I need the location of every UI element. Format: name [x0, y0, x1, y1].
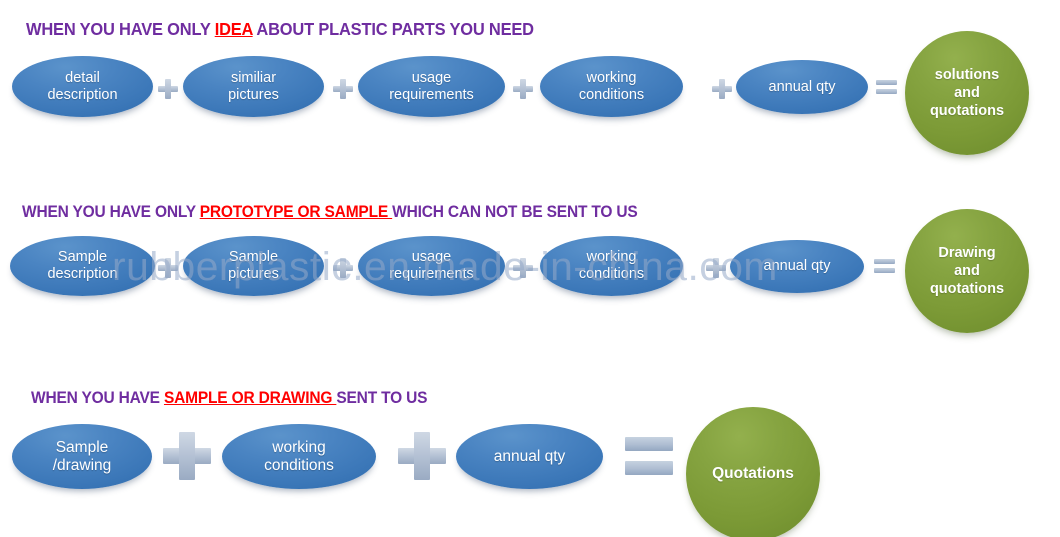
row-1-result-line3: quotations	[930, 103, 1004, 119]
row-1-input-1-text: detaildescription	[39, 70, 125, 103]
row-2-result-text: Drawingandquotations	[930, 244, 1004, 299]
row-3-equals-icon	[625, 437, 673, 475]
row-3-input-1-line1: Sample	[56, 439, 109, 456]
row-3-plus-icon-2	[398, 432, 446, 480]
row-3-input-ellipse-3[interactable]: annual qty	[456, 424, 603, 489]
row-3-heading-prefix: WHEN YOU HAVE	[31, 389, 164, 407]
row-3-input-1-text: Sample/drawing	[45, 439, 120, 474]
row-2-plus-icon-4	[706, 258, 726, 278]
row-3-input-ellipse-1[interactable]: Sample/drawing	[12, 424, 152, 489]
row-1-input-3-line1: usage	[412, 70, 452, 86]
row-3-input-2-line2: conditions	[264, 457, 334, 474]
row-1-result-line1: solutions	[935, 67, 999, 83]
row-2-input-1-text: Sampledescription	[39, 249, 125, 282]
row-2-input-4-line1: working	[587, 249, 637, 265]
row-2-input-ellipse-3[interactable]: usagerequirements	[358, 236, 505, 296]
row-1-input-5-text: annual qty	[761, 79, 844, 96]
row-1-input-3-text: usagerequirements	[381, 70, 482, 103]
row-2-heading-highlight: PROTOTYPE OR SAMPLE	[200, 203, 392, 221]
row-2-input-ellipse-2[interactable]: Samplepictures	[183, 236, 324, 296]
row-1-plus-icon-4	[712, 79, 732, 99]
row-1-input-4-text: workingconditions	[571, 70, 652, 103]
row-1-equals-icon	[876, 80, 897, 94]
row-3-plus-icon-1	[163, 432, 211, 480]
row-3-heading-highlight: SAMPLE OR DRAWING	[164, 389, 336, 407]
row-3-input-3-line1: annual qty	[494, 448, 566, 465]
row-2-result-line2: and	[954, 263, 980, 279]
row-2-heading: WHEN YOU HAVE ONLY PROTOTYPE OR SAMPLE W…	[22, 203, 638, 222]
row-1-input-2-line2: pictures	[228, 87, 279, 103]
row-3-heading-suffix: SENT TO US	[336, 389, 427, 407]
row-1-plus-icon-3	[513, 79, 533, 99]
row-2-input-2-line2: pictures	[228, 266, 279, 282]
row-2-result-line3: quotations	[930, 281, 1004, 297]
row-2-input-1-line1: Sample	[58, 249, 107, 265]
row-2-input-1-line2: description	[47, 266, 117, 282]
row-1-heading-suffix: ABOUT PLASTIC PARTS YOU NEED	[253, 19, 534, 39]
row-1-input-4-line2: conditions	[579, 87, 644, 103]
row-3-result-line1: Quotations	[712, 465, 794, 482]
row-3-result-circle[interactable]: Quotations	[686, 407, 820, 537]
row-1-input-2-text: similiarpictures	[220, 70, 287, 103]
row-1-result-line2: and	[954, 85, 980, 101]
row-3-heading: WHEN YOU HAVE SAMPLE OR DRAWING SENT TO …	[31, 389, 427, 408]
row-2-input-5-line1: annual qty	[764, 258, 831, 274]
row-1-input-5-line1: annual qty	[769, 79, 836, 95]
row-2-input-5-text: annual qty	[756, 258, 839, 275]
row-2-input-3-text: usagerequirements	[381, 249, 482, 282]
row-2-input-3-line2: requirements	[389, 266, 474, 282]
infographic-canvas: WHEN YOU HAVE ONLY IDEA ABOUT PLASTIC PA…	[0, 0, 1060, 537]
row-1-input-3-line2: requirements	[389, 87, 474, 103]
row-2-input-4-text: workingconditions	[571, 249, 652, 282]
row-1-input-4-line1: working	[587, 70, 637, 86]
row-2-heading-prefix: WHEN YOU HAVE ONLY	[22, 203, 200, 221]
row-1-input-ellipse-5[interactable]: annual qty	[736, 60, 868, 114]
row-3-input-1-line2: /drawing	[53, 457, 112, 474]
row-2-plus-icon-3	[513, 258, 533, 278]
row-2-input-3-line1: usage	[412, 249, 452, 265]
row-3-input-3-text: annual qty	[486, 448, 574, 466]
row-2-input-ellipse-4[interactable]: workingconditions	[540, 236, 683, 296]
row-1-heading-highlight: IDEA	[215, 19, 253, 39]
row-1-heading: WHEN YOU HAVE ONLY IDEA ABOUT PLASTIC PA…	[26, 19, 534, 40]
row-2-input-2-text: Samplepictures	[220, 249, 287, 282]
row-1-plus-icon-2	[333, 79, 353, 99]
row-1-input-ellipse-1[interactable]: detaildescription	[12, 56, 153, 117]
row-2-input-4-line2: conditions	[579, 266, 644, 282]
row-1-heading-prefix: WHEN YOU HAVE ONLY	[26, 19, 215, 39]
row-1-result-text: solutionsandquotations	[930, 66, 1004, 121]
row-1-plus-icon-1	[158, 79, 178, 99]
row-1-result-circle[interactable]: solutionsandquotations	[905, 31, 1029, 155]
row-2-result-line1: Drawing	[938, 245, 995, 261]
row-3-input-ellipse-2[interactable]: workingconditions	[222, 424, 376, 489]
row-2-plus-icon-2	[333, 258, 353, 278]
row-1-input-ellipse-3[interactable]: usagerequirements	[358, 56, 505, 117]
row-2-result-circle[interactable]: Drawingandquotations	[905, 209, 1029, 333]
row-2-input-ellipse-1[interactable]: Sampledescription	[10, 236, 155, 296]
row-1-input-ellipse-2[interactable]: similiarpictures	[183, 56, 324, 117]
row-1-input-ellipse-4[interactable]: workingconditions	[540, 56, 683, 117]
row-2-heading-suffix: WHICH CAN NOT BE SENT TO US	[392, 203, 637, 221]
row-3-result-text: Quotations	[712, 464, 794, 484]
row-2-plus-icon-1	[158, 258, 178, 278]
row-1-input-2-line1: similiar	[231, 70, 276, 86]
row-1-input-1-line1: detail	[65, 70, 100, 86]
row-3-input-2-line1: working	[272, 439, 325, 456]
row-2-input-2-line1: Sample	[229, 249, 278, 265]
row-2-equals-icon	[874, 259, 895, 273]
row-3-input-2-text: workingconditions	[256, 439, 342, 474]
row-2-input-ellipse-5[interactable]: annual qty	[730, 240, 864, 293]
row-1-input-1-line2: description	[47, 87, 117, 103]
